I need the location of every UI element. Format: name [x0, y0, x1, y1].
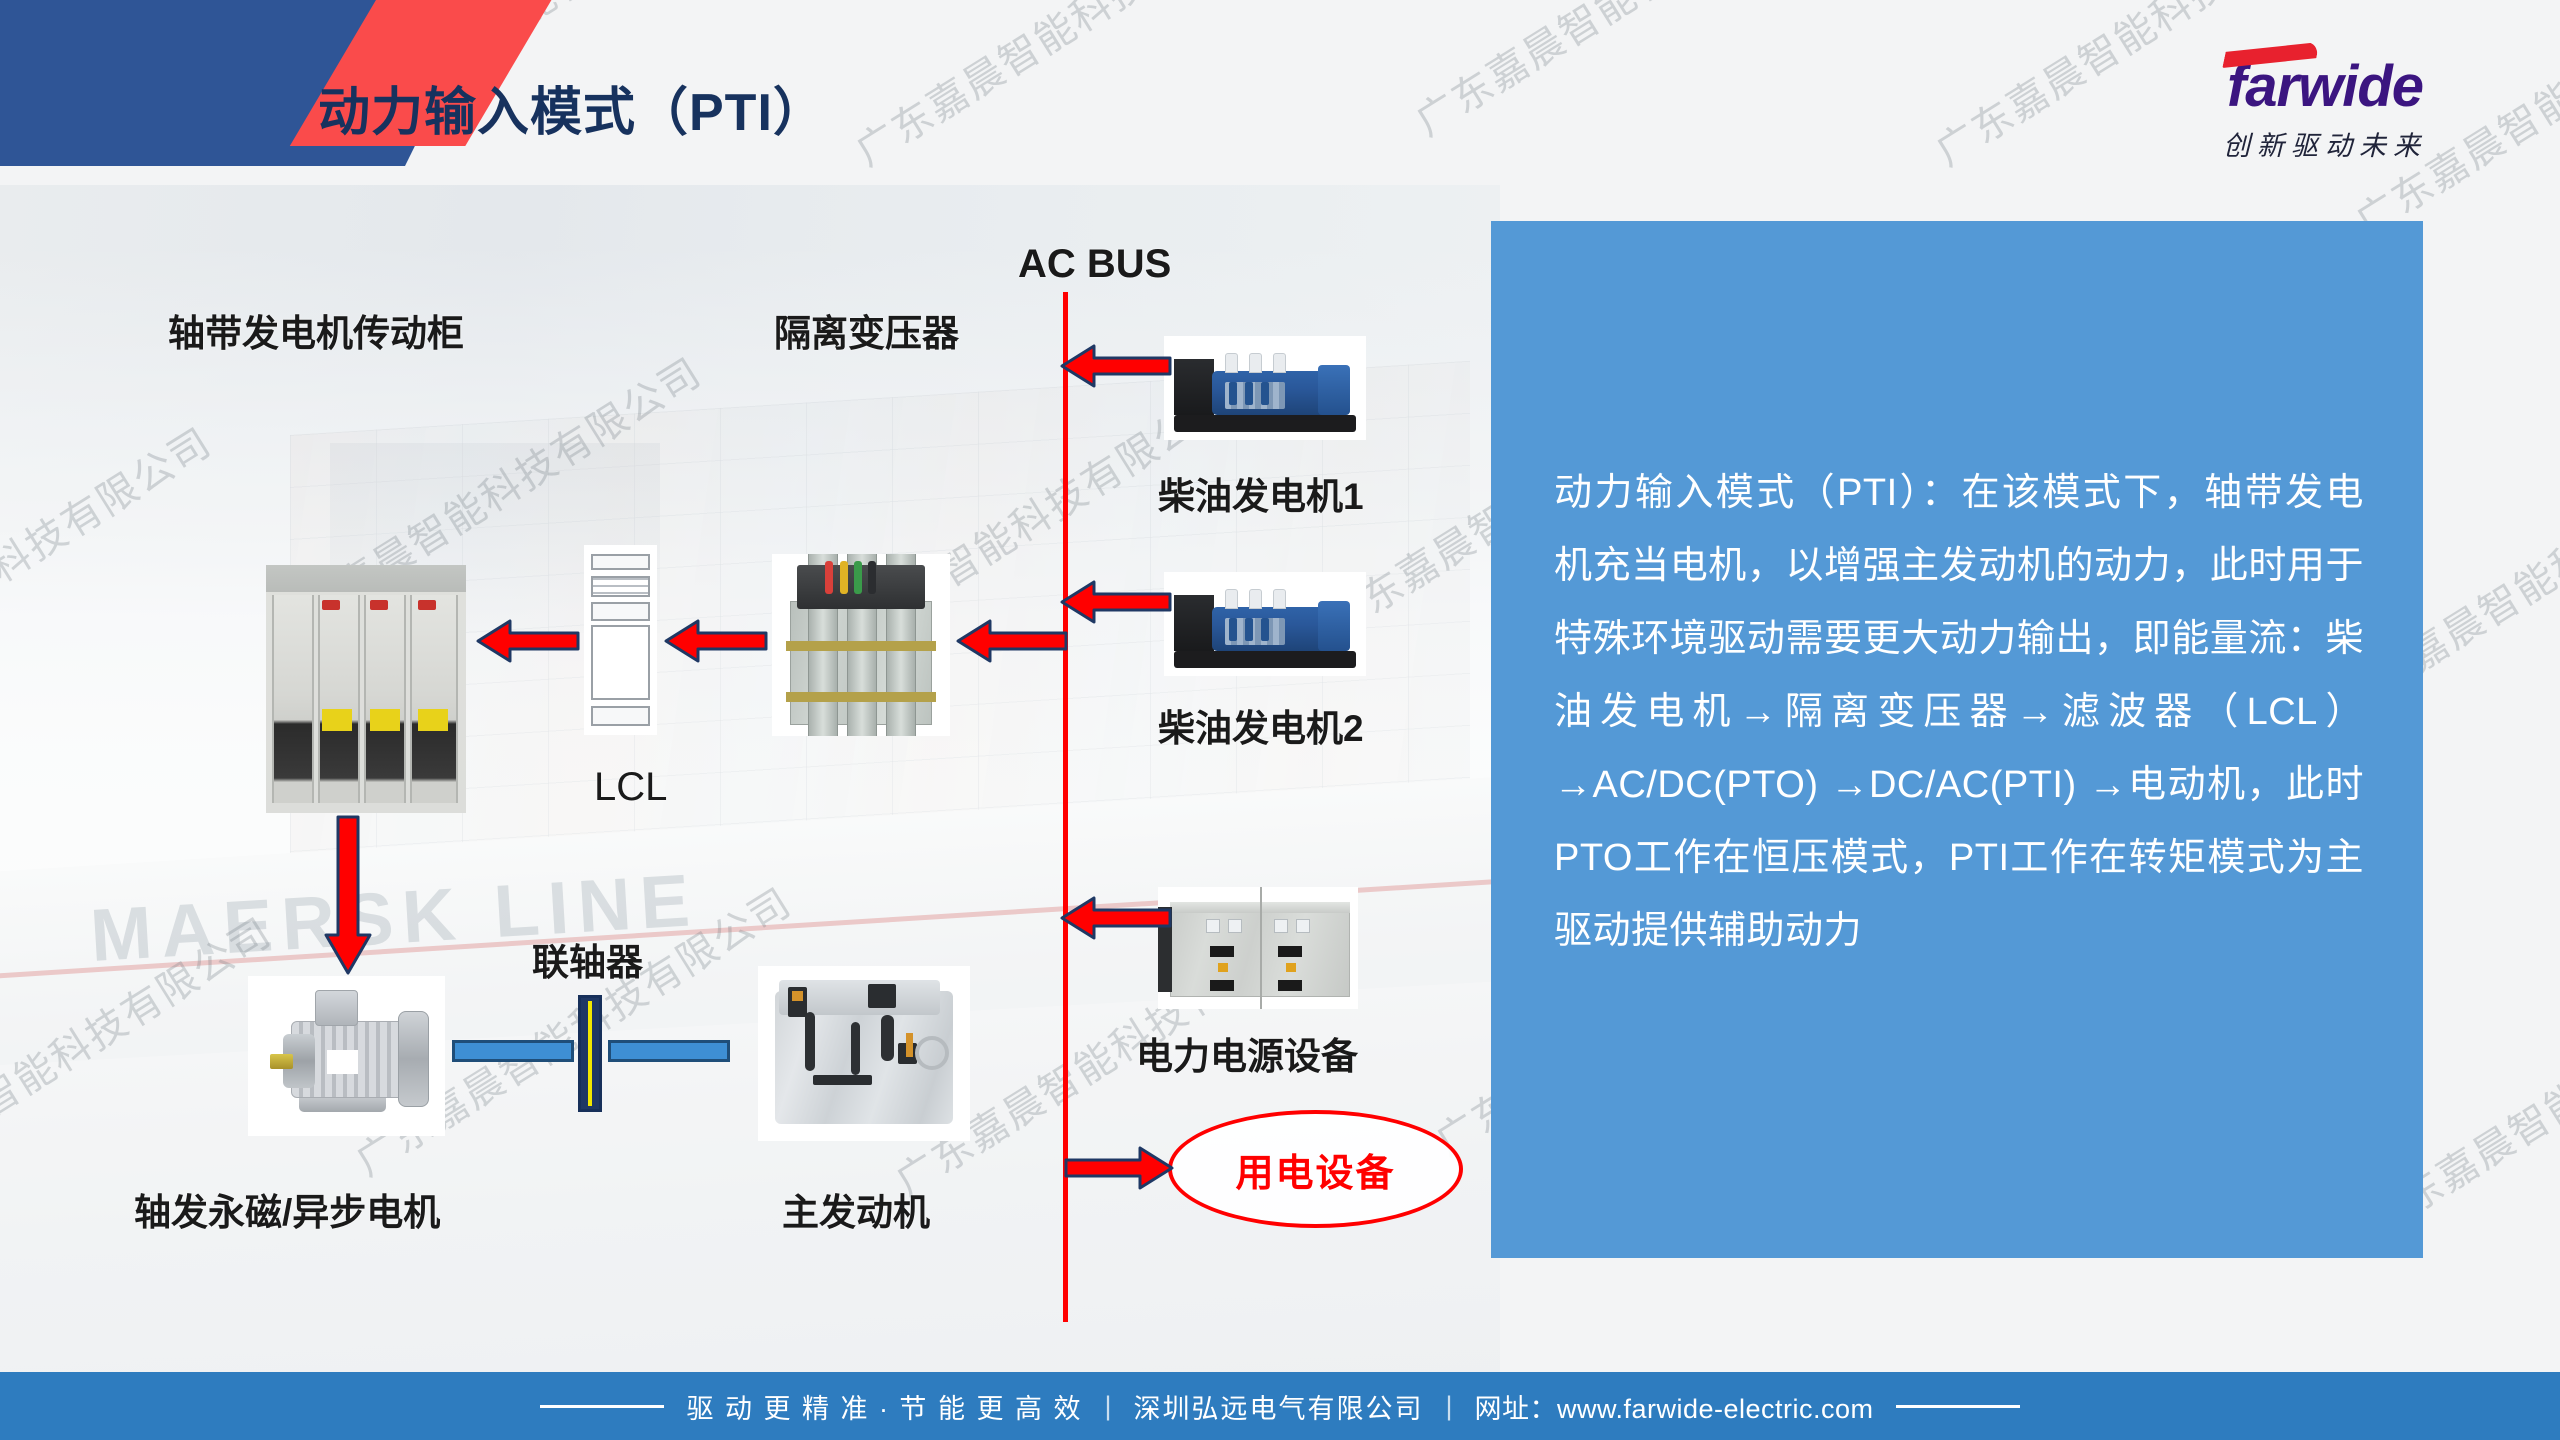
logo-mark: farwide — [2227, 58, 2423, 116]
electrical-load-label: 用电设备 — [1235, 1142, 1395, 1197]
pm-motor-photo — [248, 976, 445, 1136]
diesel-generator-1-photo — [1164, 336, 1366, 440]
footer-content: 驱 动 更 精 准 · 节 能 更 高 效 | 深圳弘远电气有限公司 | 网址：… — [540, 1387, 2019, 1426]
coupling-label: 联轴器 — [532, 932, 643, 986]
pti-diagram: AC BUS 轴带发电机传动柜 — [0, 160, 1490, 1350]
diesel-generator-1-image — [1164, 336, 1366, 440]
coupling-disc — [578, 995, 602, 1112]
arrow-transformer-to-lcl — [664, 615, 768, 667]
ac-bus-label: AC BUS — [1018, 242, 1171, 287]
lcl-filter-photo — [584, 545, 657, 735]
footer-rule-right — [1896, 1405, 2020, 1408]
main-engine-photo — [758, 966, 970, 1141]
drive-cabinet-label: 轴带发电机传动柜 — [168, 303, 464, 357]
footer-bar: 驱 动 更 精 准 · 节 能 更 高 效 | 深圳弘远电气有限公司 | 网址：… — [0, 1372, 2560, 1440]
power-supply-equipment-photo — [1158, 887, 1358, 1009]
brand-logo: farwide 创新驱动未来 — [2166, 58, 2484, 163]
pm-motor-image — [248, 976, 445, 1136]
watermark-text: 广东嘉晨智能科技有限公司 — [843, 0, 1301, 177]
isolation-transformer-label: 隔离变压器 — [774, 303, 959, 357]
page-title: 动力输入模式（PTI） — [318, 70, 826, 145]
lcl-label: LCL — [594, 765, 667, 810]
diesel-generator-1-label: 柴油发电机1 — [1158, 466, 1364, 520]
coupling-shaft-left — [452, 1040, 574, 1062]
arrow-genset1-to-bus — [1060, 340, 1172, 392]
footer-company: 深圳弘远电气有限公司 — [1133, 1387, 1423, 1426]
power-supply-equipment-image — [1158, 887, 1358, 1009]
main-engine-label: 主发动机 — [782, 1182, 930, 1236]
logo-tagline: 创新驱动未来 — [2166, 124, 2484, 163]
logo-wordmark: farwide — [2227, 58, 2423, 116]
info-panel: 动力输入模式（PTI）：在该模式下，轴带发电机充当电机，以增强主发动机的动力，此… — [1491, 221, 2423, 1258]
slide-canvas: MAERSK LINE 广东嘉晨智能科技有限公司 广东嘉晨智能科技有限公司 广东… — [0, 0, 2560, 1440]
pm-motor-label: 轴发永磁/异步电机 — [134, 1182, 440, 1236]
diesel-generator-2-label: 柴油发电机2 — [1158, 698, 1364, 752]
watermark-text: 广东嘉晨智能科技有限公司 — [1403, 0, 1861, 147]
isolation-transformer-photo — [772, 554, 950, 736]
isolation-transformer-image — [772, 554, 950, 736]
power-supply-equipment-label: 电力电源设备 — [1136, 1026, 1358, 1080]
arrow-cabinet-to-motor — [320, 815, 376, 975]
coupling-shaft-right — [608, 1040, 730, 1062]
footer-slogan: 驱 动 更 精 准 · 节 能 更 高 效 — [686, 1387, 1082, 1426]
footer-rule-left — [540, 1405, 664, 1408]
info-panel-text: 动力输入模式（PTI）：在该模式下，轴带发电机充当电机，以增强主发动机的动力，此… — [1554, 457, 2364, 968]
arrow-bus-to-load — [1062, 1142, 1174, 1194]
arrow-switchgear-to-bus — [1060, 892, 1172, 944]
footer-separator-2: | — [1445, 1391, 1452, 1422]
footer-separator-1: | — [1104, 1391, 1111, 1422]
main-engine-image — [758, 966, 970, 1141]
electrical-load-ellipse: 用电设备 — [1168, 1110, 1463, 1228]
diesel-generator-2-photo — [1164, 572, 1366, 676]
arrow-bus-to-transformer — [956, 615, 1068, 667]
lcl-filter-image — [585, 546, 656, 734]
footer-website: 网址：www.farwide-electric.com — [1474, 1387, 1873, 1426]
arrow-lcl-to-cabinet — [476, 615, 580, 667]
drive-cabinet-photo — [266, 565, 466, 813]
diesel-generator-2-image — [1164, 572, 1366, 676]
drive-cabinet-image — [266, 565, 466, 813]
arrow-genset2-to-bus — [1060, 576, 1172, 628]
